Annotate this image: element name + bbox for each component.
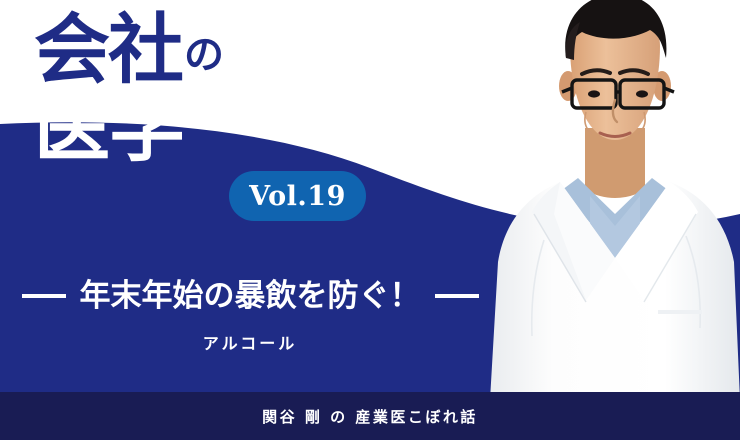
doctor-portrait — [490, 0, 740, 400]
headline-text: 年末年始の暴飲を防ぐ！ — [66, 281, 435, 312]
footer-bar: 関谷 剛 の 産業医こぼれ話 — [0, 392, 740, 440]
headline-right-rule — [435, 294, 479, 298]
title-first-line: 会社の — [34, 14, 224, 87]
article-banner: 会社の 医学 Vol.19 年末年始の暴飲を防ぐ！ アルコール — [0, 0, 740, 440]
volume-badge: Vol.19 — [229, 171, 366, 221]
banner-title: 会社の 医学 — [34, 14, 224, 165]
title-particle: の — [184, 32, 224, 78]
headline-sub-label: アルコール — [0, 330, 500, 354]
headline-left-rule — [22, 294, 66, 298]
headline-row: 年末年始の暴飲を防ぐ！ — [0, 275, 500, 317]
footer-text: 関谷 剛 の 産業医こぼれ話 — [262, 406, 478, 427]
volume-badge-label: Vol.19 — [249, 181, 346, 212]
title-main-text: 会社 — [34, 5, 182, 94]
title-second-line: 医学 — [34, 92, 224, 165]
